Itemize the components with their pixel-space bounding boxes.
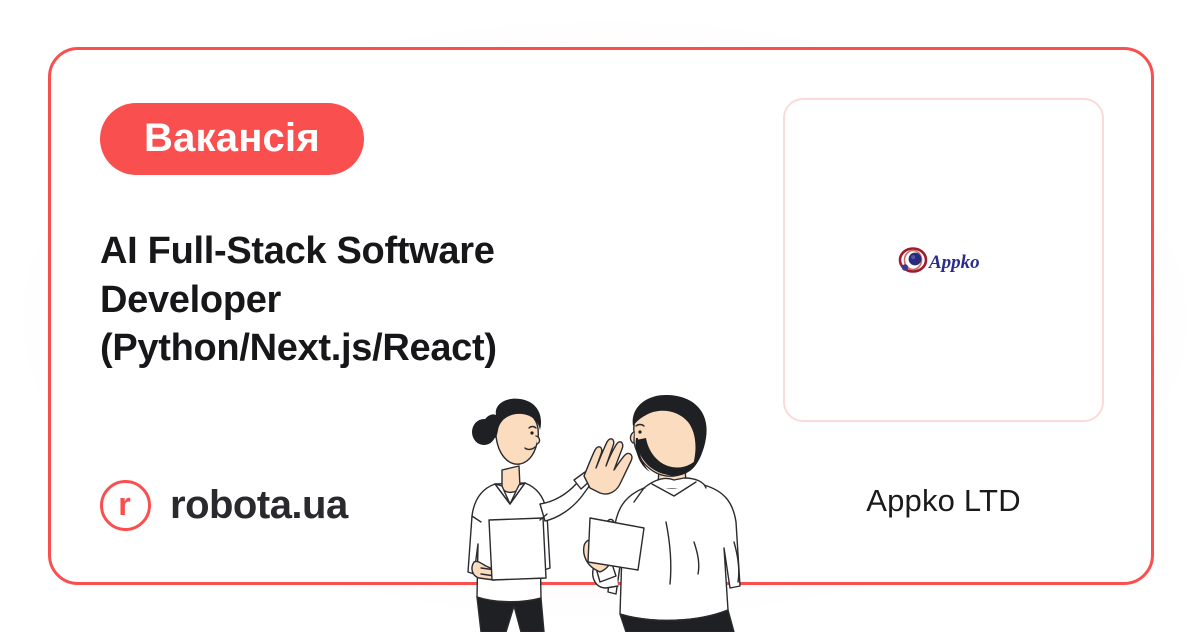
job-title-line-2: Developer (100, 276, 660, 325)
company-logo-frame: Appko (783, 98, 1104, 422)
robota-ua-logo[interactable]: r robota.ua (100, 480, 348, 531)
company-name: Appko LTD (783, 483, 1104, 519)
job-title-line-3: (Python/Next.js/React) (100, 324, 660, 373)
vacancy-info-column: Вакансія AI Full-Stack Software Develope… (100, 103, 720, 373)
robota-wordmark: robota.ua (170, 483, 348, 528)
job-title-line-1: AI Full-Stack Software (100, 227, 660, 276)
appko-logo-image: Appko (896, 243, 992, 277)
two-people-talking-illustration (448, 392, 748, 632)
robota-circle-r-icon: r (100, 480, 151, 531)
page-title: AI Full-Stack Software Developer (Python… (100, 227, 660, 373)
poster-canvas: Вакансія AI Full-Stack Software Develope… (0, 0, 1202, 632)
svg-text:Appko: Appko (928, 252, 980, 273)
robota-mark-letter: r (118, 488, 130, 520)
vacancy-badge: Вакансія (100, 103, 364, 175)
